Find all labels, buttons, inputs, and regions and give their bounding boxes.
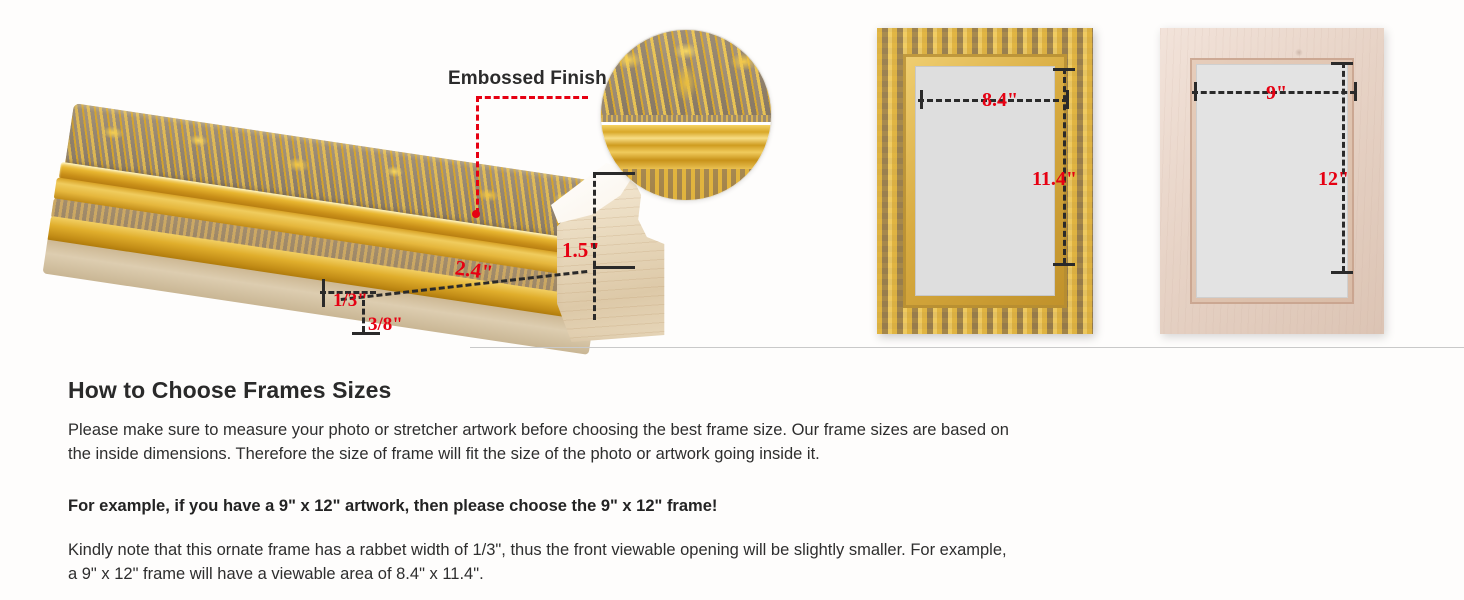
gold-frame-height-line [1063, 68, 1066, 264]
page-title: How to Choose Frames Sizes [68, 377, 391, 404]
dimension-label-rabbet-depth: 1/3" [333, 290, 368, 312]
pink-frame-height-tick-top [1331, 62, 1353, 65]
callout-anchor-dot [472, 210, 480, 218]
gold-frame-width-tick-right [1066, 90, 1069, 109]
pink-frame-width-tick-right [1354, 82, 1357, 101]
pink-frame-width-label: 9" [1266, 82, 1287, 105]
embossed-finish-detail-inset [600, 29, 772, 201]
gold-frame-height-label: 11.4" [1032, 168, 1077, 191]
pink-frame-height-tick-bottom [1331, 271, 1353, 274]
inset-bead-row [601, 115, 771, 122]
guide-paragraph-rabbet-note: Kindly note that this ornate frame has a… [68, 538, 1013, 586]
frame-size-infographic: Embossed Finish 2.4" 1.5" 1/3" 3/8" [0, 0, 1464, 600]
section-divider [470, 347, 1464, 348]
pale-pink-frame-specimen [1160, 28, 1384, 334]
tick-side-mid [593, 266, 635, 269]
tick-rabbet-left [322, 279, 325, 307]
callout-line-vertical [476, 96, 479, 214]
pink-frame-width-tick-left [1194, 82, 1197, 101]
pink-frame-height-line [1342, 62, 1345, 272]
inset-gold-highlights [601, 30, 771, 118]
gold-frame-height-tick-bottom [1053, 263, 1075, 266]
inset-gold-stripes [601, 125, 771, 169]
tick-side-top [593, 172, 635, 175]
sizing-guide-section: How to Choose Frames Sizes Please make s… [0, 355, 1464, 600]
gold-frame-width-tick-left [920, 90, 923, 109]
guide-paragraph-intro: Please make sure to measure your photo o… [68, 418, 1013, 466]
product-detail-section: Embossed Finish 2.4" 1.5" 1/3" 3/8" [0, 0, 1464, 348]
dimension-label-base-thickness: 3/8" [368, 314, 403, 336]
pink-frame-height-label: 12" [1318, 168, 1349, 191]
dimension-label-side-height: 1.5" [562, 238, 600, 263]
gold-frame-height-tick-top [1053, 68, 1075, 71]
gold-frame-width-label: 8.4" [982, 89, 1018, 112]
dimension-label-face-width: 2.4" [453, 255, 494, 285]
embossed-finish-label: Embossed Finish [448, 68, 607, 90]
guide-paragraph-example: For example, if you have a 9" x 12" artw… [68, 494, 1013, 518]
callout-line-horizontal [476, 96, 588, 99]
